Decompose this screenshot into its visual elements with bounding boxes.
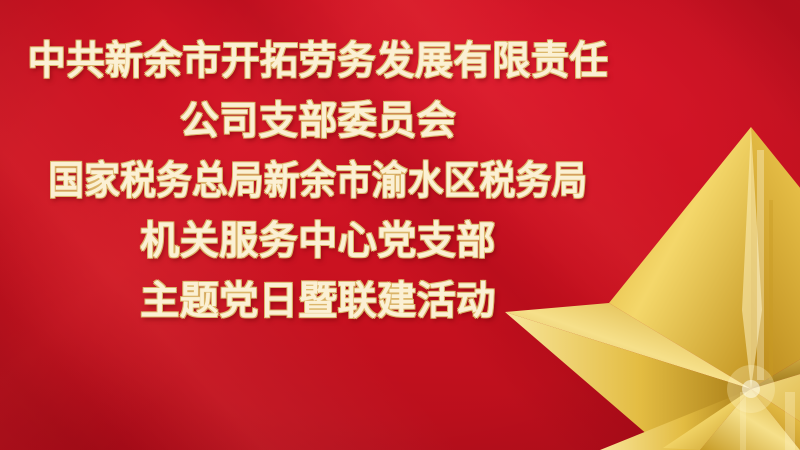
headline-line-4: 机关服务中心党支部 (0, 222, 636, 261)
headline-block: 中共新余市开拓劳务发展有限责任 公司支部委员会 国家税务总局新余市渝水区税务局 … (0, 42, 636, 321)
headline-line-1: 中共新余市开拓劳务发展有限责任 (6, 42, 629, 81)
headline-line-3: 国家税务总局新余市渝水区税务局 (29, 162, 608, 201)
poster-canvas: 中共新余市开拓劳务发展有限责任 公司支部委员会 国家税务总局新余市渝水区税务局 … (0, 0, 800, 450)
headline-line-5: 主题党日暨联建活动 (0, 282, 636, 321)
headline-line-2: 公司支部委员会 (0, 102, 636, 141)
